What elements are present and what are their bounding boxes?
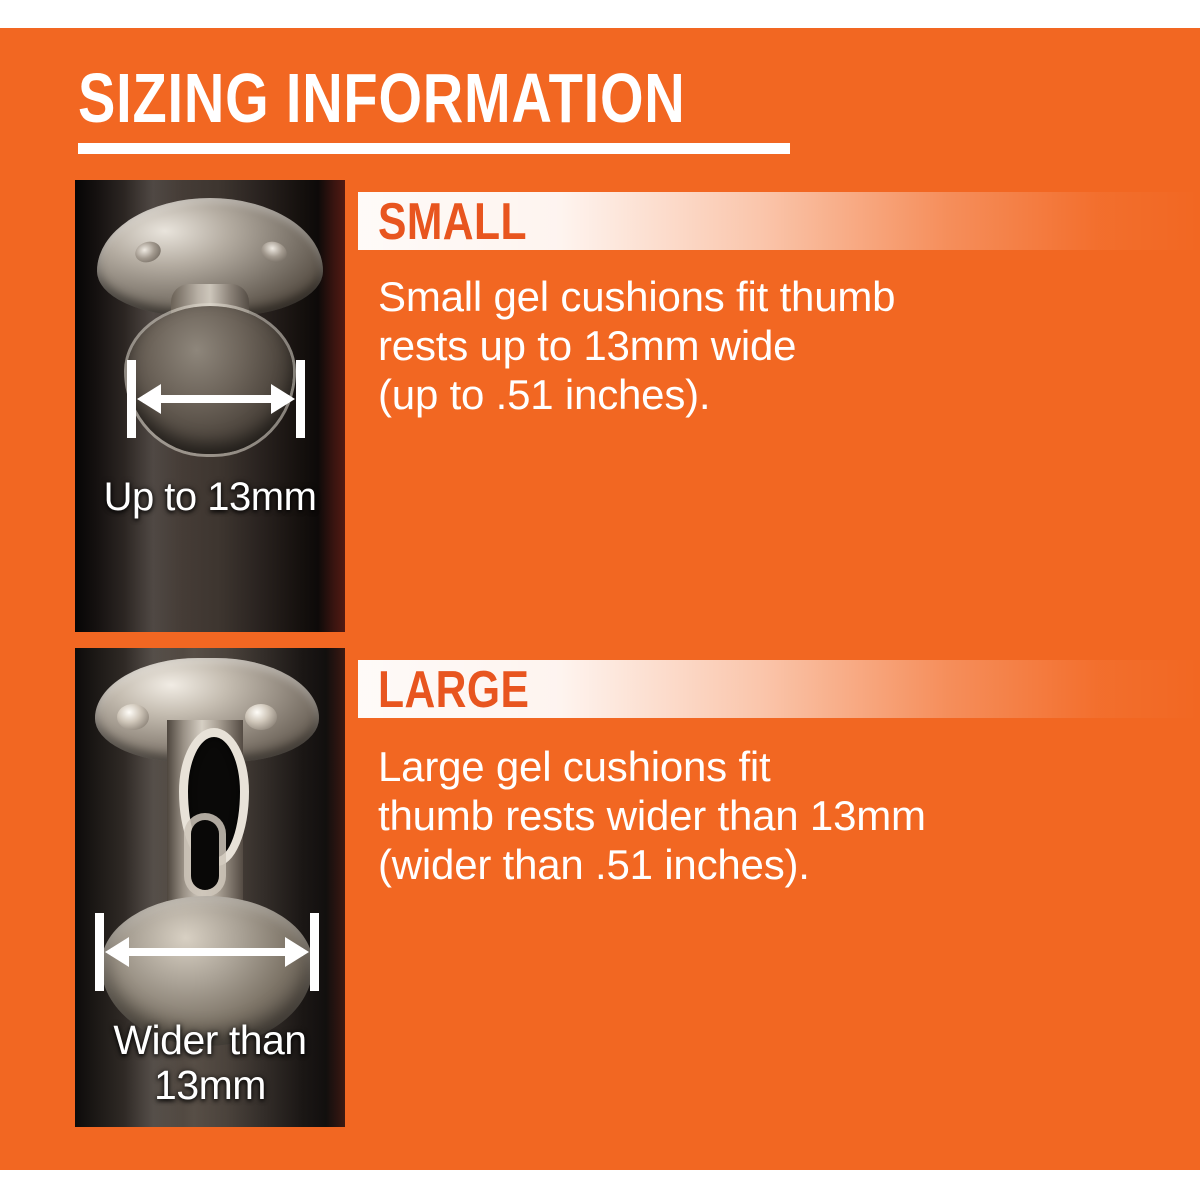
measurement-shaft [111, 948, 303, 956]
measurement-shaft [143, 395, 289, 403]
measurement-endbar-right [296, 360, 305, 438]
small-section-header-band: SMALL [358, 192, 1200, 250]
measurement-endbar-left [95, 913, 104, 991]
measurement-endbar-right [310, 913, 319, 991]
large-thumb-rest-photo: Wider than 13mm [75, 648, 345, 1127]
arrow-head-left-icon [137, 384, 161, 414]
mounting-screw-right-icon [245, 704, 277, 730]
large-caption-line-2: 13mm [154, 1062, 266, 1108]
large-description-line-1: Large gel cushions fit [378, 742, 1168, 791]
small-section-description: Small gel cushions fit thumb rests up to… [378, 272, 1168, 419]
small-description-line-1: Small gel cushions fit thumb [378, 272, 1168, 321]
arrow-head-left-icon [105, 937, 129, 967]
large-photo-caption: Wider than 13mm [75, 1018, 345, 1108]
small-caption-line-1: Up to [104, 475, 197, 519]
small-photo-caption: Up to 13mm [75, 475, 345, 520]
small-thumb-rest-photo: Up to 13mm [75, 180, 345, 632]
large-section-label: LARGE [378, 662, 529, 718]
title-underline-rule [78, 143, 790, 154]
arrow-head-right-icon [285, 937, 309, 967]
mounting-screw-left-icon [117, 704, 149, 730]
large-section-description: Large gel cushions fit thumb rests wider… [378, 742, 1168, 889]
large-description-line-3: (wider than .51 inches). [378, 840, 1168, 889]
large-section-header-band: LARGE [358, 660, 1200, 718]
page-title: SIZING INFORMATION [78, 62, 978, 134]
large-description-line-2: thumb rests wider than 13mm [378, 791, 1168, 840]
page-title-text: SIZING INFORMATION [78, 62, 798, 134]
measurement-arrow-small [127, 360, 305, 438]
thumb-rest-adjust-slot [191, 820, 219, 890]
measurement-arrow-large [95, 913, 319, 991]
sizing-information-infographic: SIZING INFORMATION Up to 13mm [0, 0, 1200, 1200]
small-section-label: SMALL [378, 194, 527, 250]
small-description-line-2: rests up to 13mm wide [378, 321, 1168, 370]
small-description-line-3: (up to .51 inches). [378, 370, 1168, 419]
measurement-endbar-left [127, 360, 136, 438]
arrow-head-right-icon [271, 384, 295, 414]
large-caption-line-1: Wider than [113, 1017, 306, 1063]
small-caption-line-2: 13mm [207, 475, 316, 519]
